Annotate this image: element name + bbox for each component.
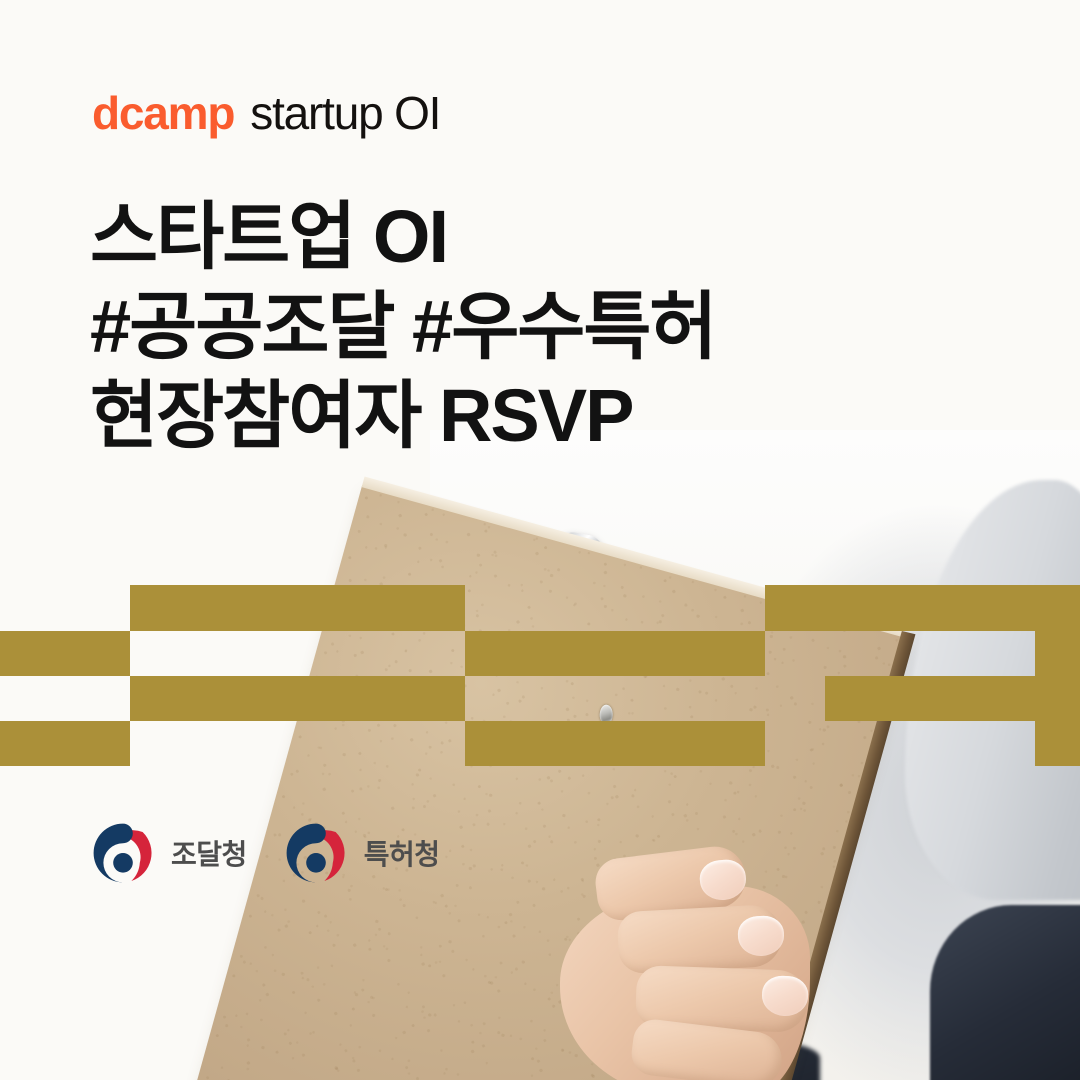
content-layer: dcampstartup OI 스타트업 OI #공공조달 #우수특허 현장참여… <box>0 0 1080 1080</box>
agency-logo-row: 조달청 특허청 <box>88 818 440 888</box>
headline-line-2: #공공조달 #우수특허 <box>90 282 716 372</box>
poster-canvas: dcampstartup OI 스타트업 OI #공공조달 #우수특허 현장참여… <box>0 0 1080 1080</box>
agency-name-label: 조달청 <box>171 833 247 873</box>
agency-logo-patent: 특허청 <box>281 818 440 888</box>
brand-logo: dcampstartup OI <box>92 90 440 136</box>
headline-line-3: 현장참여자 RSVP <box>90 371 716 461</box>
korean-government-taegeuk-icon <box>88 818 158 888</box>
brand-logo-mark: dcamp <box>92 87 234 139</box>
brand-logo-name: startup OI <box>250 87 440 139</box>
korean-government-taegeuk-icon <box>281 818 351 888</box>
agency-name-label: 특허청 <box>364 833 440 873</box>
headline-line-1: 스타트업 OI <box>90 192 716 282</box>
agency-logo-procurement: 조달청 <box>88 818 247 888</box>
page-title: 스타트업 OI #공공조달 #우수특허 현장참여자 RSVP <box>90 192 716 461</box>
